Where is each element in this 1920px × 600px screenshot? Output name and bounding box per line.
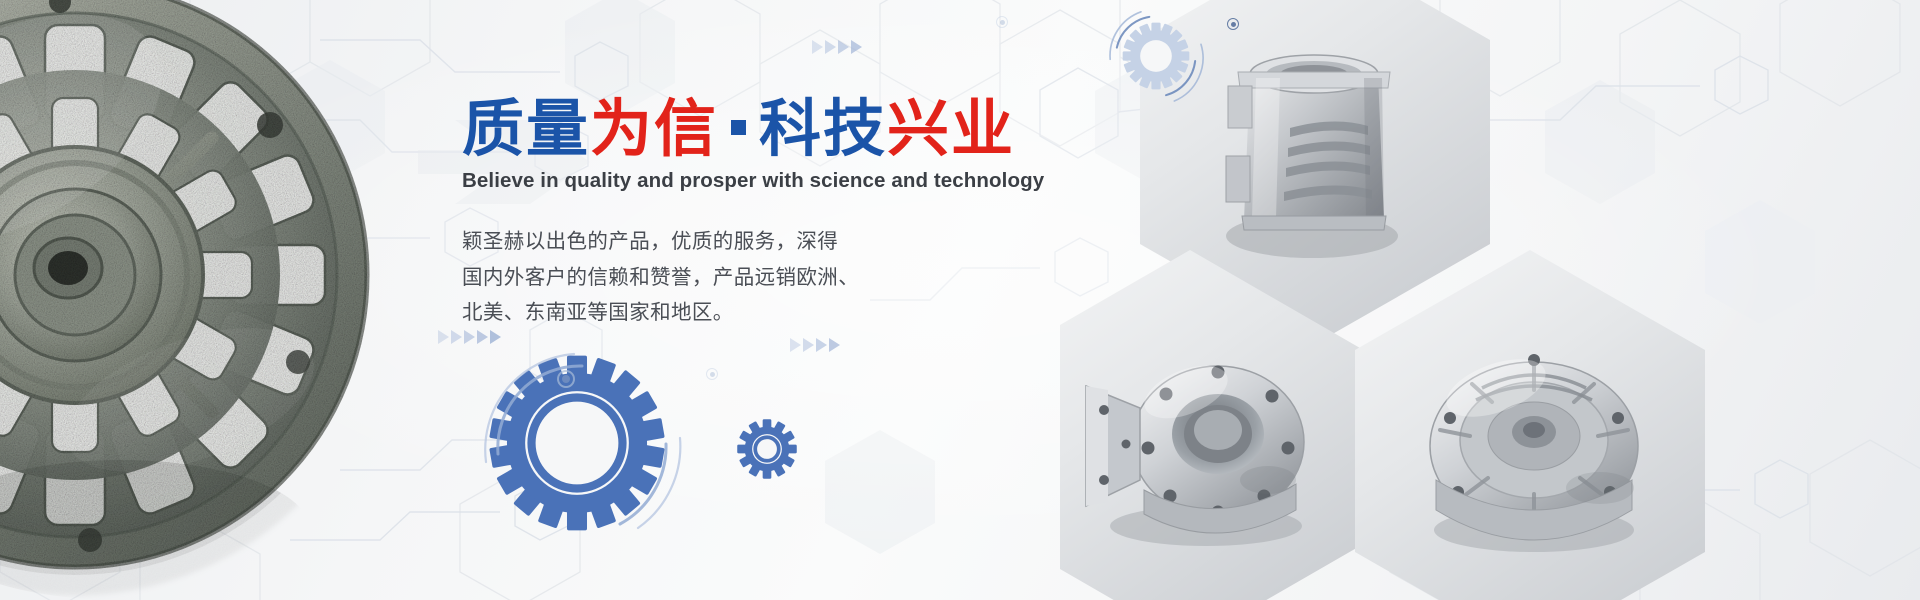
banner-copy: 质量为信科技兴业 Believe in quality and prosper … [462, 98, 1022, 331]
description-line: 国内外客户的信赖和赞誉，产品远销欧洲、 [462, 260, 1022, 295]
hero-banner: 质量为信科技兴业 Believe in quality and prosper … [0, 0, 1920, 600]
headline-segment-1: 质量 [462, 95, 590, 164]
banner-description: 颖圣赫以出色的产品，优质的服务，深得 国内外客户的信赖和赞誉，产品远销欧洲、 北… [462, 224, 1022, 330]
page-title: 质量为信科技兴业 [462, 98, 1022, 162]
page-subtitle: Believe in quality and prosper with scie… [462, 169, 1022, 193]
headline-segment-2: 为信 [590, 95, 718, 164]
description-line: 颖圣赫以出色的产品，优质的服务，深得 [462, 224, 1022, 259]
ribbed-motor-housing-casting-photo [1355, 250, 1705, 600]
product-hex-gallery [1060, 0, 1920, 600]
description-line: 北美、东南亚等国家和地区。 [462, 295, 1022, 330]
headline-segment-3: 科技 [759, 95, 887, 164]
headline-separator-dot [731, 120, 746, 135]
headline-segment-4: 兴业 [887, 95, 1015, 164]
